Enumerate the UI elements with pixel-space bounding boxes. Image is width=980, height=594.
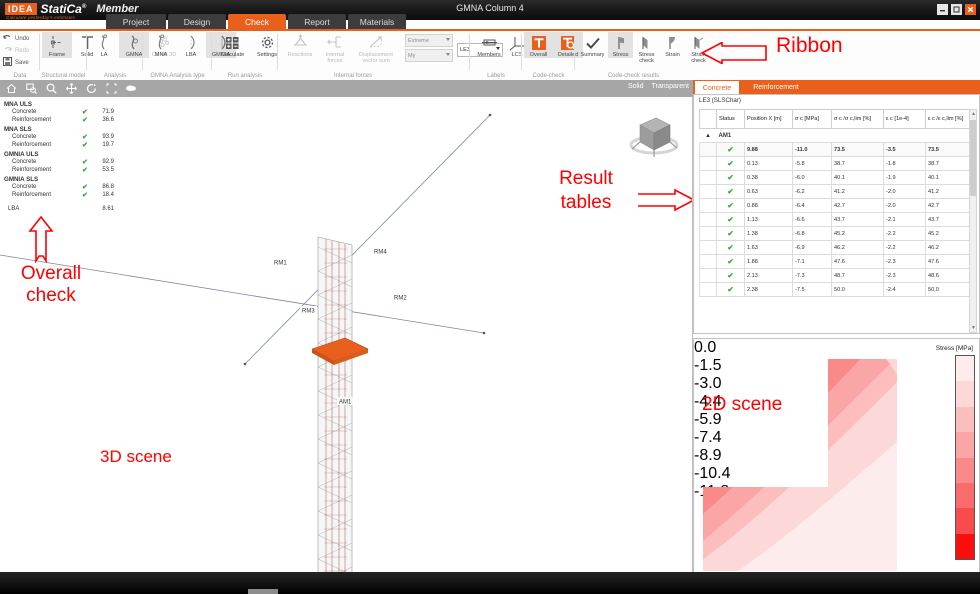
pan-icon[interactable] xyxy=(65,83,77,95)
cell-sigma-c: -6.8 xyxy=(793,227,832,241)
stress-check-button[interactable]: Stress check xyxy=(633,32,660,65)
cell-sigma-ratio: 38.7 xyxy=(832,157,884,171)
overall-icon xyxy=(531,33,547,52)
table-row[interactable]: ✔1.63-6.946.2-2.246.2 xyxy=(700,241,977,255)
chevron-down-icon xyxy=(446,53,450,56)
status-ok-icon: ✔ xyxy=(717,213,745,227)
extreme-select[interactable]: Extreme xyxy=(405,34,453,47)
overall-button[interactable]: Overall xyxy=(524,32,553,58)
mna-label: MNA xyxy=(155,52,167,58)
calculate-label: Calculate xyxy=(221,52,244,58)
save-button[interactable]: Save xyxy=(3,57,40,68)
annotation-overall-check: Overallcheck xyxy=(6,263,96,307)
member-label-rm4: RM4 xyxy=(374,250,387,256)
hand-icon[interactable] xyxy=(125,83,137,95)
la-button[interactable]: LA xyxy=(89,32,119,58)
status-ok-icon: ✔ xyxy=(717,283,745,297)
save-icon xyxy=(3,57,12,68)
gmna-icon xyxy=(126,33,142,52)
member-label-rm1: RM1 xyxy=(274,261,287,267)
cell-epsilon-c: -1.9 xyxy=(884,171,926,185)
redo-label: Redo xyxy=(15,48,29,54)
cell-sigma-c: -6.2 xyxy=(793,185,832,199)
stress-label: Stress xyxy=(613,52,629,58)
la-label: LA xyxy=(101,52,108,58)
frame-button[interactable]: Frame xyxy=(42,32,72,58)
status-ok-icon: ✔ xyxy=(717,185,745,199)
redo-button[interactable]: Redo xyxy=(3,45,40,56)
ribbon-group-data: Undo Redo Save Data xyxy=(0,31,40,80)
status-ok-icon: ✔ xyxy=(717,143,745,157)
col-expand xyxy=(700,110,717,129)
legend-band xyxy=(956,508,974,533)
application-window: IDEA StatiCa® Member Calculate yesterday… xyxy=(0,0,980,594)
zoom-window-icon[interactable] xyxy=(25,83,37,95)
row-indent xyxy=(700,143,717,157)
scroll-up-icon[interactable]: ▲ xyxy=(971,111,976,117)
chevron-down-icon xyxy=(446,38,450,41)
row-indent xyxy=(700,157,717,171)
reactions-label: Reactions xyxy=(288,52,313,58)
cell-epsilon-c: -2.3 xyxy=(884,255,926,269)
tab-reinforcement[interactable]: Reinforcement xyxy=(741,80,811,94)
cell-position-x: 0.13 xyxy=(745,157,793,171)
ribbon-group-title-labels: Labels xyxy=(470,73,522,79)
table-row[interactable]: ✔0.88-6.442.7-2.042.7 xyxy=(700,199,977,213)
cell-sigma-ratio: 46.2 xyxy=(832,241,884,255)
undo-label: Undo xyxy=(15,36,29,42)
member-label-rm3: RM3 xyxy=(302,309,315,315)
ribbon-group-title-structural-model: Structural model xyxy=(40,73,87,79)
undo-icon xyxy=(3,34,12,44)
cell-position-x: 1.88 xyxy=(745,255,793,269)
la-icon xyxy=(96,33,112,52)
save-label: Save xyxy=(15,60,29,66)
annotation-arrow-result-tables xyxy=(637,189,693,211)
members-label: Members xyxy=(477,52,500,58)
cell-sigma-c: -6.9 xyxy=(793,241,832,255)
tab-check[interactable]: Check xyxy=(228,14,286,29)
displacement-vector-sum-label: Displacement vector sum xyxy=(354,52,398,65)
legend-band xyxy=(956,381,974,406)
status-ok-icon: ✔ xyxy=(717,241,745,255)
table-header-row: Status Position X [m] σ c [MPa] σ c /σ c… xyxy=(700,110,977,129)
cell-sigma-c: -7.5 xyxy=(793,283,832,297)
cell-sigma-ratio: 43.7 xyxy=(832,213,884,227)
cell-position-x: 2.38 xyxy=(745,283,793,297)
calculate-button[interactable]: Calculate xyxy=(214,32,251,58)
view-toolbar: Solid Transparent xyxy=(0,80,697,97)
cell-sigma-ratio: 73.5 xyxy=(832,143,884,157)
undo-button[interactable]: Undo xyxy=(3,33,40,44)
magnifier-icon[interactable] xyxy=(45,83,57,95)
cross-section-stress-plot xyxy=(700,349,900,579)
annotation-3d-scene: 3D scene xyxy=(100,447,172,467)
lba-label: LBA xyxy=(186,52,197,58)
fit-icon[interactable] xyxy=(105,83,117,95)
table-group-row[interactable]: ▲ AM1 xyxy=(700,129,977,143)
cell-epsilon-c: -2.2 xyxy=(884,227,926,241)
legend-title: Stress [MPa] xyxy=(905,345,975,352)
strain-icon xyxy=(665,33,681,52)
legend-band xyxy=(956,356,974,381)
reactions-button[interactable]: Reactions xyxy=(282,32,318,58)
status-ok-icon: ✔ xyxy=(717,199,745,213)
navigation-cube[interactable] xyxy=(624,105,684,165)
annotation-arrow-overall-check xyxy=(26,215,56,263)
reactions-icon xyxy=(292,33,309,52)
ribbon-group-internal-forces: Reactions Internal forces Displacement v… xyxy=(278,31,470,80)
table-row[interactable]: ✔0.13-5.838.7-1.838.7 xyxy=(700,157,977,171)
cell-sigma-ratio: 40.1 xyxy=(832,171,884,185)
cell-epsilon-c: -3.5 xyxy=(884,143,926,157)
calculate-icon xyxy=(224,33,241,52)
results-table-panel: LE3 (SLSChar) Status Position X [m] σ c … xyxy=(693,94,980,334)
tab-materials[interactable]: Materials xyxy=(348,14,406,29)
col-position-x: Position X [m] xyxy=(745,110,793,129)
ribbon-group-code-check-results: Summary Stress Stress check Strain Strai… xyxy=(575,31,692,80)
solid-toggle[interactable]: Solid xyxy=(628,83,644,90)
col-sigma-ratio: σ c /σ c,lim [%] xyxy=(832,110,884,129)
mna-button[interactable]: MNA xyxy=(146,32,176,58)
document-title: GMNA Column 4 xyxy=(0,3,980,13)
cell-sigma-c: -6.6 xyxy=(793,213,832,227)
ribbon-group-title-run-analysis: Run analysis xyxy=(212,73,278,79)
cell-sigma-ratio: 50.0 xyxy=(832,283,884,297)
row-indent xyxy=(700,255,717,269)
cell-sigma-c: -6.4 xyxy=(793,199,832,213)
table-row[interactable]: ✔ 9.88 -11.0 73.5 -3.5 73.5 xyxy=(700,143,977,157)
cell-epsilon-c: -2.3 xyxy=(884,269,926,283)
cell-sigma-ratio: 48.7 xyxy=(832,269,884,283)
redo-icon xyxy=(3,46,12,56)
annotation-2d-scene: 2D scene xyxy=(702,394,782,416)
home-icon[interactable] xyxy=(5,83,17,95)
table-row[interactable]: ✔1.88-7.147.6-2.347.6 xyxy=(700,255,977,269)
stress-button[interactable]: Stress xyxy=(608,32,633,58)
strain-button[interactable]: Strain xyxy=(660,32,685,58)
row-indent xyxy=(700,199,717,213)
cell-epsilon-c: -2.2 xyxy=(884,241,926,255)
status-ok-icon: ✔ xyxy=(717,269,745,283)
stress-icon xyxy=(613,33,629,52)
legend-band xyxy=(956,483,974,508)
frame-icon xyxy=(49,33,66,52)
row-indent xyxy=(700,227,717,241)
ribbon-group-title-internal-forces: Internal forces xyxy=(278,73,428,79)
ribbon-group-gmna-analysis-type: MNA LBA GMNIA GMNA Analysis type xyxy=(143,31,212,80)
expand-collapse-icon[interactable]: ▲ xyxy=(700,129,717,143)
member-label-rm2: RM2 xyxy=(394,296,407,302)
scene-2d[interactable]: Stress [MPa] 0.0 -1.5 -3.0 -4.4 -5.9 -7.… xyxy=(693,338,980,594)
col-status: Status xyxy=(717,110,745,129)
cell-position-x: 9.88 xyxy=(745,143,793,157)
table-row[interactable]: ✔1.13-6.643.7-2.143.7 xyxy=(700,213,977,227)
row-indent xyxy=(700,171,717,185)
annotation-ribbon: Ribbon xyxy=(776,34,843,58)
status-ok-icon: ✔ xyxy=(717,255,745,269)
displacement-vector-sum-icon xyxy=(368,33,385,52)
ribbon-group-labels: Members LCS Labels xyxy=(470,31,522,80)
cell-position-x: 0.38 xyxy=(745,171,793,185)
row-indent xyxy=(700,185,717,199)
members-icon xyxy=(481,33,498,52)
table-row[interactable]: ✔1.38-6.845.2-2.245.2 xyxy=(700,227,977,241)
results-table[interactable]: Status Position X [m] σ c [MPa] σ c /σ c… xyxy=(699,109,977,297)
cell-epsilon-c: -2.0 xyxy=(884,185,926,199)
cell-position-x: 2.13 xyxy=(745,269,793,283)
table-row[interactable]: ✔0.63-6.241.2-2.041.2 xyxy=(700,185,977,199)
summary-button[interactable]: Summary xyxy=(577,32,608,58)
cell-position-x: 1.63 xyxy=(745,241,793,255)
cell-position-x: 0.88 xyxy=(745,199,793,213)
frame-label: Frame xyxy=(49,52,65,58)
stress-legend: Stress [MPa] xyxy=(905,345,975,352)
summary-check-icon xyxy=(585,33,601,52)
ribbon-group-title-code-check: Code-check xyxy=(522,73,575,79)
component-select[interactable]: My xyxy=(405,49,453,62)
settings-label: Settings xyxy=(257,52,277,58)
ribbon-group-code-check: Overall Detailed Code-check xyxy=(522,31,575,80)
legend-colorbar xyxy=(955,355,975,560)
annotation-arrow-ribbon xyxy=(700,42,768,64)
ribbon-group-title-code-check-results: Code-check results xyxy=(575,73,692,79)
members-button[interactable]: Members xyxy=(473,32,505,58)
lba-icon xyxy=(183,33,200,52)
member-label-am1: AM1 xyxy=(339,400,352,406)
status-ok-icon: ✔ xyxy=(717,157,745,171)
extreme-select-value: Extreme xyxy=(408,38,429,44)
legend-band xyxy=(956,458,974,483)
tab-project[interactable]: Project xyxy=(106,14,166,29)
view-mode-toggle: Solid Transparent xyxy=(628,83,689,90)
cell-epsilon-c: -2.1 xyxy=(884,213,926,227)
cell-sigma-c: -6.0 xyxy=(793,171,832,185)
row-indent xyxy=(700,269,717,283)
cell-sigma-ratio: 42.7 xyxy=(832,199,884,213)
ribbon-group-run-analysis: Calculate Settings Run analysis xyxy=(212,31,278,80)
overall-label: Overall xyxy=(530,52,548,58)
legend-band xyxy=(956,407,974,432)
summary-label: Summary xyxy=(581,52,605,58)
internal-forces-icon xyxy=(327,33,344,52)
ribbon-group-title-data: Data xyxy=(0,73,40,79)
table-row[interactable]: ✔2.13-7.348.7-2.348.6 xyxy=(700,269,977,283)
cell-position-x: 1.38 xyxy=(745,227,793,241)
ribbon-group-analysis: LA GMNA 3D CSFM 3D Analysis xyxy=(87,31,143,80)
cell-sigma-ratio: 47.6 xyxy=(832,255,884,269)
gear-icon xyxy=(259,33,276,52)
tab-concrete[interactable]: Concrete xyxy=(695,80,739,95)
results-pane: Concrete Reinforcement LE3 (SLSChar) Sta… xyxy=(693,80,980,594)
mna-icon xyxy=(153,33,170,52)
tab-report[interactable]: Report xyxy=(288,14,346,29)
ribbon-group-structural-model: Frame Solid Structural model xyxy=(40,31,87,80)
cell-sigma-ratio: 41.2 xyxy=(832,185,884,199)
tab-design[interactable]: Design xyxy=(168,14,226,29)
load-effect-caption: LE3 (SLSChar) xyxy=(699,97,741,104)
row-indent xyxy=(700,213,717,227)
ribbon-group-title-analysis: Analysis xyxy=(87,73,143,79)
legend-band xyxy=(956,432,974,457)
row-indent xyxy=(700,283,717,297)
cell-position-x: 0.63 xyxy=(745,185,793,199)
annotation-result-tables: Resulttables xyxy=(538,167,634,215)
group-label: AM1 xyxy=(717,129,977,143)
strain-label: Strain xyxy=(665,52,680,58)
cell-sigma-c: -11.0 xyxy=(793,143,832,157)
col-epsilon-c: ε c [1e-4] xyxy=(884,110,926,129)
desktop-taskbar xyxy=(0,572,980,594)
scene-3d[interactable]: MNA ULS Concrete✔71.9 Reinforcement✔36.6… xyxy=(0,97,693,594)
internal-forces-label: Internal forces xyxy=(320,52,350,65)
component-select-value: My xyxy=(408,53,415,59)
cell-sigma-c: -5.8 xyxy=(793,157,832,171)
status-ok-icon: ✔ xyxy=(717,227,745,241)
cell-position-x: 1.13 xyxy=(745,213,793,227)
col-sigma-c: σ c [MPa] xyxy=(793,110,832,129)
displacement-vector-sum-button[interactable]: Displacement vector sum xyxy=(352,32,400,65)
table-row[interactable]: ✔2.38-7.550.0-2.450.0 xyxy=(700,283,977,297)
status-ok-icon: ✔ xyxy=(717,171,745,185)
cell-epsilon-c: -1.8 xyxy=(884,157,926,171)
cell-sigma-c: -7.3 xyxy=(793,269,832,283)
cell-epsilon-c: -2.4 xyxy=(884,283,926,297)
cell-sigma-ratio: 45.2 xyxy=(832,227,884,241)
internal-forces-button[interactable]: Internal forces xyxy=(318,32,352,65)
ribbon-group-title-gmna-analysis-type: GMNA Analysis type xyxy=(143,73,212,79)
scrollbar-thumb[interactable] xyxy=(970,120,976,196)
stress-check-label: Stress check xyxy=(635,52,658,65)
results-tab-strip: Concrete Reinforcement xyxy=(693,80,980,94)
transparent-toggle[interactable]: Transparent xyxy=(652,83,689,90)
cell-epsilon-c: -2.0 xyxy=(884,199,926,213)
stress-check-icon xyxy=(639,33,655,52)
taskbar-handle xyxy=(248,589,278,594)
cell-sigma-c: -7.1 xyxy=(793,255,832,269)
scroll-down-icon[interactable]: ▼ xyxy=(971,325,976,331)
gmna-label: GMNA xyxy=(126,52,143,58)
lba-button[interactable]: LBA xyxy=(176,32,206,58)
rotate-icon[interactable] xyxy=(85,83,97,95)
ribbon-tab-strip: Project Design Check Report Materials xyxy=(0,14,980,30)
row-indent xyxy=(700,241,717,255)
table-row[interactable]: ✔0.38-6.040.1-1.940.1 xyxy=(700,171,977,185)
results-table-scrollbar[interactable]: ▲ ▼ xyxy=(969,109,977,333)
legend-band xyxy=(956,534,974,559)
